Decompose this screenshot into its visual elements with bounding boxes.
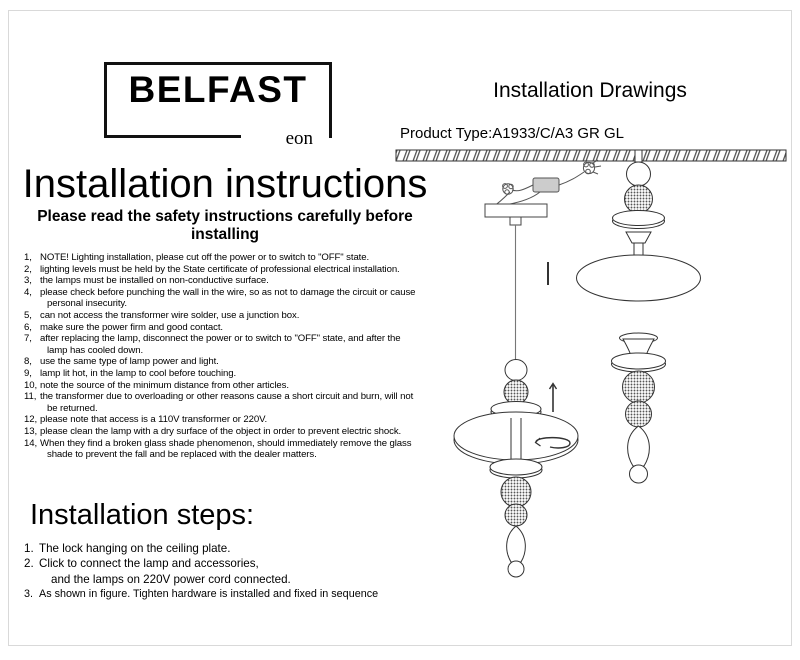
assembly-direction-arrow — [550, 384, 557, 413]
detail-base-plate — [577, 255, 701, 301]
glass-disc-small-lower — [490, 459, 542, 478]
detail2-teardrop — [628, 426, 650, 466]
item-text-continued: be returned. — [40, 403, 424, 415]
safety-note-item: 7,after replacing the lamp, disconnect t… — [24, 333, 424, 356]
brand-logo: BELFAST eon — [104, 62, 332, 138]
safety-note-item: 9,lamp lit hot, in the lamp to cool befo… — [24, 368, 424, 380]
item-text: make sure the power firm and good contac… — [40, 322, 424, 334]
detail2-disc — [612, 353, 666, 372]
transformer-wiring-detail — [494, 160, 601, 206]
safety-note-item: 13,please clean the lamp with a dry surf… — [24, 426, 424, 438]
item-number: 4, — [24, 287, 40, 310]
detail-drawing-lower — [612, 333, 666, 483]
right-column: Installation Drawings Product Type:A1933… — [390, 0, 800, 655]
detail-ball-clear — [627, 162, 651, 186]
page-title: Installation instructions — [16, 162, 434, 206]
installation-steps-list: 1.The lock hanging on the ceiling plate.… — [24, 541, 424, 603]
wire-connector-right — [583, 160, 601, 174]
finial-ball — [508, 561, 524, 577]
safety-note-item: 2,lighting levels must be held by the St… — [24, 264, 424, 276]
safety-note-item: 14,When they find a broken glass shade p… — [24, 438, 424, 461]
glass-ball-frosted-upper — [504, 380, 528, 404]
item-number: 8, — [24, 356, 40, 368]
item-text: please check before punching the wall in… — [40, 287, 424, 310]
item-number: 14, — [24, 438, 40, 461]
item-text: use the same type of lamp power and ligh… — [40, 356, 424, 368]
item-number: 3. — [24, 587, 39, 602]
safety-subtitle: Please read the safety instructions care… — [16, 208, 434, 244]
glass-ball-clear — [505, 360, 527, 381]
item-text: lamp lit hot, in the lamp to cool before… — [40, 368, 424, 380]
item-text-continued: and the lamps on 220V power cord connect… — [39, 572, 424, 587]
detail2-ball-frosted-upper — [623, 371, 655, 403]
item-number: 1, — [24, 252, 40, 264]
item-text: As shown in figure. Tighten hardware is … — [39, 587, 424, 602]
safety-note-item: 10,note the source of the minimum distan… — [24, 380, 424, 392]
ceiling-plate — [485, 204, 547, 225]
detail-ball-frosted — [625, 185, 653, 213]
logo-wordmark: BELFAST — [104, 70, 332, 110]
teardrop-finial — [507, 526, 526, 562]
item-number: 6, — [24, 322, 40, 334]
left-column: BELFAST eon Installation instructions Pl… — [0, 0, 430, 655]
detail-rod-top — [635, 150, 642, 162]
item-number: 7, — [24, 333, 40, 356]
item-text: please note that access is a 110V transf… — [40, 414, 424, 426]
safety-note-item: 3,the lamps must be installed on non-con… — [24, 275, 424, 287]
logo-subword: eon — [281, 129, 318, 148]
detail2-ball-frosted-lower — [626, 401, 652, 427]
safety-note-item: 4,please check before punching the wall … — [24, 287, 424, 310]
item-text: can not access the transformer wire sold… — [40, 310, 424, 322]
safety-note-item: 5,can not access the transformer wire so… — [24, 310, 424, 322]
main-lamp-assembly — [454, 360, 578, 578]
installation-steps-title: Installation steps: — [30, 499, 254, 532]
detail-cone — [626, 232, 651, 243]
wire-connector-left — [503, 184, 514, 195]
installation-step-item: 3.As shown in figure. Tighten hardware i… — [24, 587, 424, 602]
glass-ball-frosted-mid — [501, 477, 531, 507]
item-text: When they find a broken glass shade phen… — [40, 438, 424, 461]
item-number: 1. — [24, 541, 39, 556]
installation-step-item: 2.Click to connect the lamp and accessor… — [24, 556, 424, 587]
item-text: please clean the lamp with a dry surface… — [40, 426, 424, 438]
ceiling-bar — [396, 150, 786, 161]
item-number: 9, — [24, 368, 40, 380]
safety-note-item: 8,use the same type of lamp power and li… — [24, 356, 424, 368]
detail2-finial-ball — [630, 465, 648, 483]
item-text: note the source of the minimum distance … — [40, 380, 424, 392]
item-number: 12, — [24, 414, 40, 426]
item-text: the transformer due to overloading or ot… — [40, 391, 424, 414]
safety-note-item: 11,the transformer due to overloading or… — [24, 391, 424, 414]
item-text: NOTE! Lighting installation, please cut … — [40, 252, 424, 264]
detail-disc — [613, 211, 665, 229]
item-text: the lamps must be installed on non-condu… — [40, 275, 424, 287]
safety-note-item: 1,NOTE! Lighting installation, please cu… — [24, 252, 424, 264]
item-text-continued: lamp has cooled down. — [40, 345, 424, 357]
safety-note-item: 6,make sure the power firm and good cont… — [24, 322, 424, 334]
item-text: Click to connect the lamp and accessorie… — [39, 556, 424, 587]
glass-ball-frosted-lower — [505, 504, 527, 526]
item-number: 11, — [24, 391, 40, 414]
safety-notes-list: 1,NOTE! Lighting installation, please cu… — [24, 252, 424, 461]
item-text: The lock hanging on the ceiling plate. — [39, 541, 424, 556]
installation-step-item: 1.The lock hanging on the ceiling plate. — [24, 541, 424, 556]
item-text: after replacing the lamp, disconnect the… — [40, 333, 424, 356]
document-page: BELFAST eon Installation instructions Pl… — [0, 0, 800, 655]
installation-drawing — [390, 140, 800, 660]
item-number: 13, — [24, 426, 40, 438]
item-number: 5, — [24, 310, 40, 322]
safety-note-item: 12,please note that access is a 110V tra… — [24, 414, 424, 426]
item-text-continued: personal insecurity. — [40, 298, 424, 310]
item-text: lighting levels must be held by the Stat… — [40, 264, 424, 276]
item-text-continued: shade to prevent the fall and be replace… — [40, 449, 424, 461]
item-number: 10, — [24, 380, 40, 392]
item-number: 2. — [24, 556, 39, 587]
drawings-title: Installation Drawings — [390, 78, 790, 103]
item-number: 3, — [24, 275, 40, 287]
item-number: 2, — [24, 264, 40, 276]
